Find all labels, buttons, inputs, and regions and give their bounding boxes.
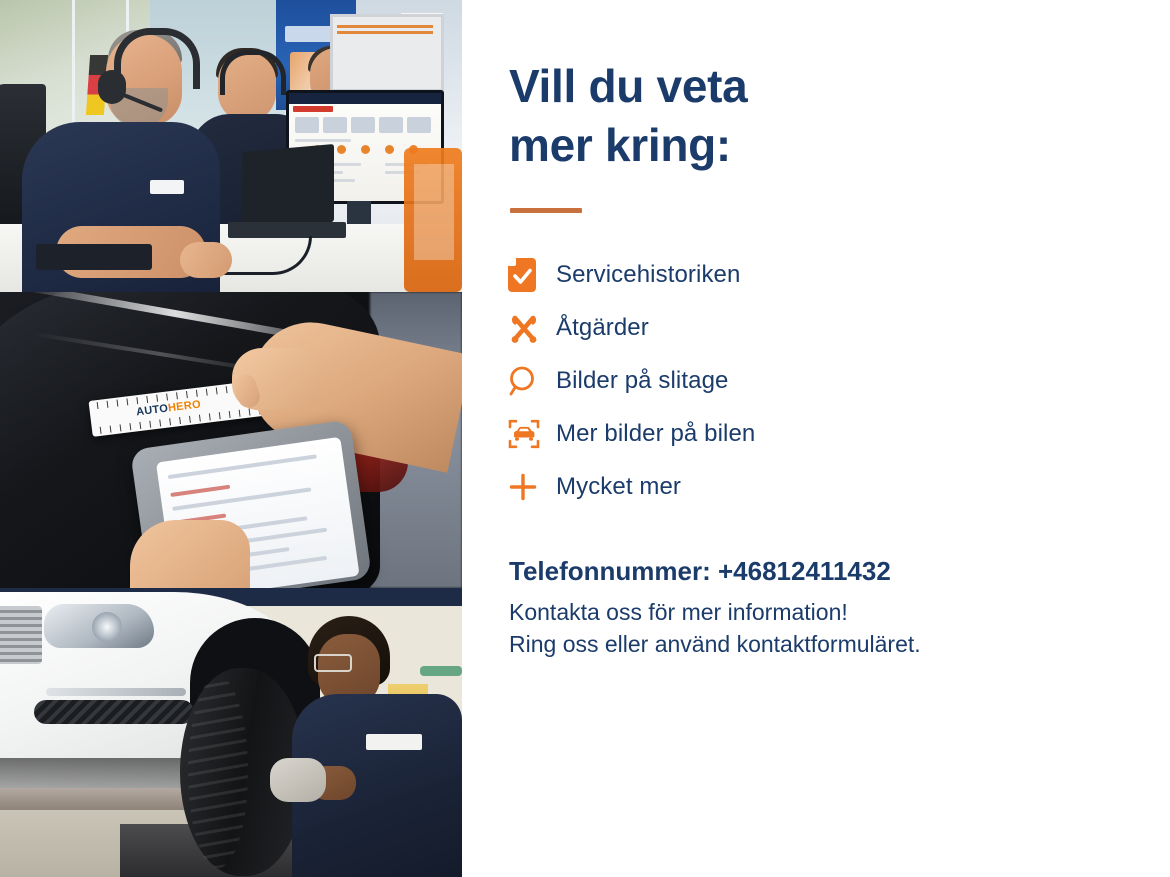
feature-list: Servicehistoriken Åtgärder [508,248,928,513]
lower-grille [34,700,194,724]
magnifier-icon [508,365,556,397]
autohero-logo: AUTOHERO [135,398,201,418]
holding-hand [130,520,250,588]
headlight [44,604,154,648]
list-item-label: Åtgärder [556,314,649,342]
chrome-trim [46,688,186,696]
list-item: Mer bilder på bilen [508,407,928,460]
phone-number-line: Telefonnummer: +46812411432 [509,555,1069,588]
desk-tablet [36,244,152,270]
vehicle-inspection-photo: AUTOHERO [0,292,462,588]
list-item-label: Servicehistoriken [556,261,740,289]
mechanic [292,616,462,877]
photo-strip: AUTOHERO [0,0,462,877]
page-title: Vill du veta mer kring: [509,57,839,175]
contact-line-2: Ring oss eller använd kontaktformuläret. [509,628,1069,661]
tire-tread [188,676,248,868]
headline-line-1: Vill du veta [509,57,839,116]
plus-icon [508,472,556,502]
list-item: Åtgärder [508,301,928,354]
logo-hero: HERO [167,398,201,414]
logo-auto: AUTO [135,402,168,418]
orange-chair [404,148,462,292]
list-item: Bilder på slitage [508,354,928,407]
call-center-agents-photo [0,0,462,292]
front-grille [0,606,42,664]
headline-line-2: mer kring: [509,116,839,175]
laptop [228,148,346,240]
promotional-banner: AUTOHERO [0,0,1170,877]
contact-text: Kontakta oss för mer information! Ring o… [509,596,1069,661]
background-monitor [330,14,444,92]
list-item-label: Mycket mer [556,473,681,501]
contact-line-1: Kontakta oss för mer information! [509,596,1069,629]
list-item-label: Bilder på slitage [556,367,728,395]
content-panel: Vill du veta mer kring: Servicehistorike… [462,0,1170,877]
car-scan-icon [508,418,556,450]
title-divider [510,208,582,213]
wrench-screwdriver-icon [508,312,556,344]
list-item: Servicehistoriken [508,248,928,301]
list-item: Mycket mer [508,460,928,513]
workshop-tire-photo [0,588,462,877]
document-check-icon [508,258,556,292]
contact-block: Telefonnummer: +46812411432 Kontakta oss… [509,555,1069,661]
list-item-label: Mer bilder på bilen [556,420,755,448]
